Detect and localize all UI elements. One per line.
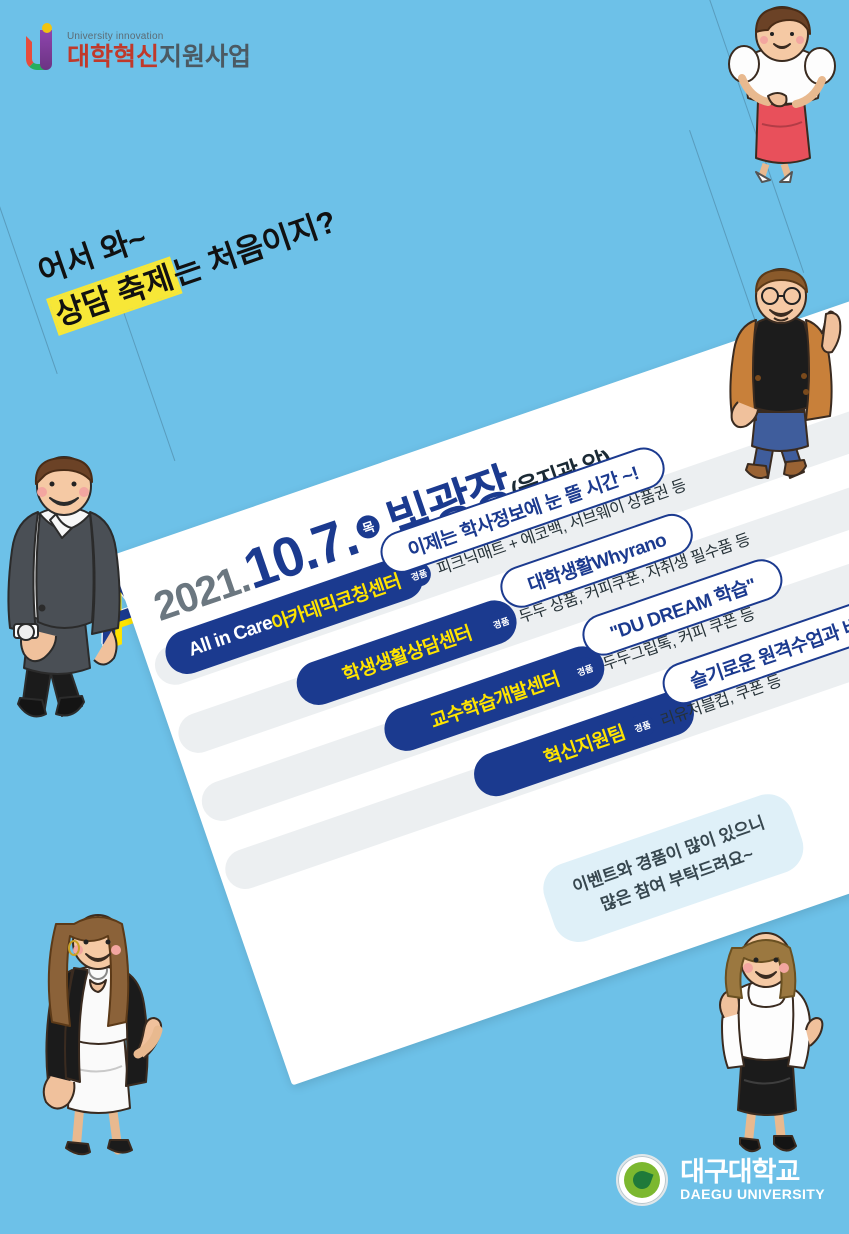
university-name-english: DAEGU UNIVERSITY — [680, 1187, 825, 1202]
university-innovation-logo: University innovation 대학혁신지원사업 — [26, 24, 251, 70]
logo-korean-red: 대학혁신 — [67, 43, 159, 71]
character-man-gray-suit — [0, 452, 144, 742]
event-day-of-week: 목 — [354, 512, 383, 541]
university-seal-icon — [616, 1154, 668, 1206]
logo-korean-gray: 지원사업 — [159, 43, 251, 71]
logo-english-text: University innovation — [67, 32, 251, 42]
daegu-university-logo: 대구대학교 DAEGU UNIVERSITY — [616, 1154, 825, 1206]
character-woman-red-skirt — [722, 4, 842, 184]
logo-mark-icon — [26, 24, 60, 70]
logo-korean-text: 대학혁신지원사업 — [67, 45, 251, 70]
closing-note: 이벤트와 경품이 많이 있으니 많은 참여 부탁드려요~ — [536, 787, 810, 949]
guide-line-4 — [119, 300, 175, 461]
university-name-korean: 대구대학교 — [680, 1158, 825, 1187]
character-man-tan-blazer — [718, 266, 848, 496]
character-woman-black-jacket — [28, 908, 168, 1178]
poster-canvas: University innovation 대학혁신지원사업 어서 와~ 상담 … — [0, 0, 849, 1234]
guide-line-1 — [0, 90, 58, 374]
tagline: 어서 와~ 상담 축제는 처음이지? — [32, 155, 343, 338]
character-woman-white-sweater — [700, 930, 840, 1180]
